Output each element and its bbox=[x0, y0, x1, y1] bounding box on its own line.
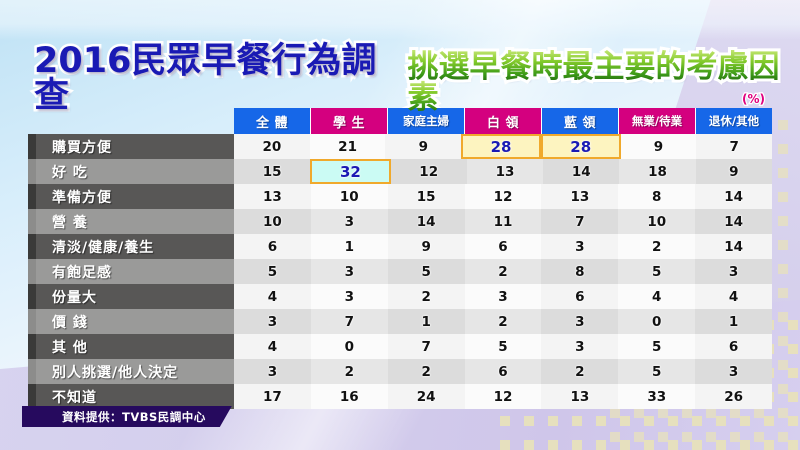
table-column-header: 無業/待業 bbox=[619, 108, 696, 134]
table-row-cells: 20219282897 bbox=[234, 134, 772, 159]
table-cell: 20 bbox=[234, 134, 310, 159]
table-column-header: 藍 領 bbox=[542, 108, 619, 134]
table-row: 有飽足感5352853 bbox=[28, 259, 772, 284]
table-row-label: 份量大 bbox=[28, 284, 234, 309]
table-row-cells: 61963214 bbox=[234, 234, 772, 259]
table-cell: 10 bbox=[234, 209, 311, 234]
broadcast-graphic: 2016民眾早餐行為調查 挑選早餐時最主要的考慮因素 挑選早餐時最主要的考慮因素… bbox=[0, 0, 800, 450]
table-column-header: 白 領 bbox=[465, 108, 542, 134]
table-cell: 3 bbox=[234, 359, 311, 384]
table-row-cells: 17162412133326 bbox=[234, 384, 772, 409]
table-cell: 1 bbox=[695, 309, 772, 334]
table-row-cells: 3712301 bbox=[234, 309, 772, 334]
table-row-cells: 5352853 bbox=[234, 259, 772, 284]
table-row: 好 吃1532121314189 bbox=[28, 159, 772, 184]
table-cell: 3 bbox=[311, 284, 388, 309]
table-cell: 5 bbox=[618, 334, 695, 359]
table-cell: 14 bbox=[388, 209, 465, 234]
table-body: 購買方便20219282897好 吃1532121314189準備方便13101… bbox=[28, 134, 772, 409]
table-cell: 12 bbox=[465, 184, 542, 209]
table-cell: 14 bbox=[543, 159, 619, 184]
table-cell: 18 bbox=[619, 159, 695, 184]
table-cell: 3 bbox=[541, 334, 618, 359]
table-cell: 6 bbox=[465, 359, 542, 384]
table-cell: 9 bbox=[385, 134, 461, 159]
table-column-header: 退休/其他 bbox=[696, 108, 772, 134]
table-cell: 13 bbox=[467, 159, 543, 184]
table-cell: 3 bbox=[465, 284, 542, 309]
table-cell: 3 bbox=[541, 309, 618, 334]
table-row-cells: 4075356 bbox=[234, 334, 772, 359]
table-cell: 2 bbox=[388, 284, 465, 309]
table-row-label: 購買方便 bbox=[28, 134, 234, 159]
table-cell: 2 bbox=[618, 234, 695, 259]
table-cell: 8 bbox=[541, 259, 618, 284]
table-cell: 4 bbox=[234, 334, 311, 359]
table-cell: 10 bbox=[618, 209, 695, 234]
table-column-header: 全 體 bbox=[234, 108, 311, 134]
table-cell: 5 bbox=[465, 334, 542, 359]
table-cell: 5 bbox=[618, 259, 695, 284]
table-cell: 7 bbox=[311, 309, 388, 334]
table-cell: 0 bbox=[618, 309, 695, 334]
table-cell: 16 bbox=[311, 384, 388, 409]
table-cell: 10 bbox=[311, 184, 388, 209]
table-cell: 2 bbox=[465, 309, 542, 334]
table-row-label: 營 養 bbox=[28, 209, 234, 234]
table-row: 清淡/健康/養生61963214 bbox=[28, 234, 772, 259]
table-cell: 3 bbox=[311, 209, 388, 234]
table-row-cells: 1310151213814 bbox=[234, 184, 772, 209]
table-cell: 13 bbox=[234, 184, 311, 209]
table-row-cells: 1532121314189 bbox=[234, 159, 772, 184]
table-cell: 13 bbox=[541, 384, 618, 409]
table-row: 購買方便20219282897 bbox=[28, 134, 772, 159]
table-row: 不知道17162412133326 bbox=[28, 384, 772, 409]
table-cell: 5 bbox=[234, 259, 311, 284]
table-cell: 12 bbox=[465, 384, 542, 409]
table-cell: 4 bbox=[234, 284, 311, 309]
page-title-primary: 2016民眾早餐行為調查 bbox=[34, 44, 402, 114]
table-cell: 26 bbox=[695, 384, 772, 409]
table-cell: 13 bbox=[541, 184, 618, 209]
table-cell: 9 bbox=[621, 134, 697, 159]
table-row-label: 有飽足感 bbox=[28, 259, 234, 284]
table-cell: 3 bbox=[234, 309, 311, 334]
table-row-cells: 3226253 bbox=[234, 359, 772, 384]
table-cell: 3 bbox=[695, 359, 772, 384]
table-cell: 5 bbox=[618, 359, 695, 384]
table-cell: 0 bbox=[311, 334, 388, 359]
unit-label: (%) bbox=[742, 92, 765, 106]
source-attribution: 資料提供：TVBS民調中心 bbox=[22, 406, 232, 427]
table-cell: 33 bbox=[618, 384, 695, 409]
table-row-label: 準備方便 bbox=[28, 184, 234, 209]
table-cell: 12 bbox=[391, 159, 467, 184]
table-cell: 2 bbox=[465, 259, 542, 284]
table-cell: 2 bbox=[311, 359, 388, 384]
table-cell: 7 bbox=[388, 334, 465, 359]
table-cell: 4 bbox=[695, 284, 772, 309]
table-cell: 14 bbox=[695, 234, 772, 259]
table-cell: 14 bbox=[695, 184, 772, 209]
table-cell: 3 bbox=[695, 259, 772, 284]
table-cell: 9 bbox=[388, 234, 465, 259]
table-row: 營 養103141171014 bbox=[28, 209, 772, 234]
title-block: 2016民眾早餐行為調查 挑選早餐時最主要的考慮因素 挑選早餐時最主要的考慮因素 bbox=[34, 44, 800, 114]
table-row: 準備方便1310151213814 bbox=[28, 184, 772, 209]
table-row: 份量大4323644 bbox=[28, 284, 772, 309]
table-cell: 21 bbox=[310, 134, 386, 159]
table-cell: 15 bbox=[234, 159, 310, 184]
table-cell: 5 bbox=[388, 259, 465, 284]
table-cell: 24 bbox=[388, 384, 465, 409]
table-cell: 6 bbox=[541, 284, 618, 309]
table-cell: 7 bbox=[541, 209, 618, 234]
table-header-row: 全 體學 生家庭主婦白 領藍 領無業/待業退休/其他 bbox=[234, 108, 772, 134]
table-row-label: 清淡/健康/養生 bbox=[28, 234, 234, 259]
table-cell: 6 bbox=[465, 234, 542, 259]
table-row: 別人挑選/他人決定3226253 bbox=[28, 359, 772, 384]
table-cell: 15 bbox=[388, 184, 465, 209]
table-row: 價 錢3712301 bbox=[28, 309, 772, 334]
table-row-label: 不知道 bbox=[28, 384, 234, 409]
table-cell: 2 bbox=[388, 359, 465, 384]
table-cell: 3 bbox=[541, 234, 618, 259]
background-top-highlight bbox=[0, 0, 800, 40]
table-cell: 3 bbox=[311, 259, 388, 284]
table-column-header: 學 生 bbox=[311, 108, 388, 134]
table-cell: 7 bbox=[696, 134, 772, 159]
table-cell: 6 bbox=[234, 234, 311, 259]
table-row-label: 其 他 bbox=[28, 334, 234, 359]
survey-table: 全 體學 生家庭主婦白 領藍 領無業/待業退休/其他 購買方便202192828… bbox=[28, 108, 772, 409]
table-row-label: 好 吃 bbox=[28, 159, 234, 184]
table-cell: 1 bbox=[311, 234, 388, 259]
table-row-cells: 4323644 bbox=[234, 284, 772, 309]
table-cell: 8 bbox=[618, 184, 695, 209]
table-row: 其 他4075356 bbox=[28, 334, 772, 359]
table-cell: 14 bbox=[695, 209, 772, 234]
table-cell-highlighted: 28 bbox=[541, 134, 621, 159]
table-cell-highlighted: 32 bbox=[310, 159, 390, 184]
table-cell: 4 bbox=[618, 284, 695, 309]
table-cell-highlighted: 28 bbox=[461, 134, 541, 159]
table-row-cells: 103141171014 bbox=[234, 209, 772, 234]
table-cell: 1 bbox=[388, 309, 465, 334]
table-cell: 11 bbox=[465, 209, 542, 234]
table-row-label: 價 錢 bbox=[28, 309, 234, 334]
table-cell: 9 bbox=[696, 159, 772, 184]
table-cell: 6 bbox=[695, 334, 772, 359]
table-cell: 2 bbox=[541, 359, 618, 384]
table-row-label: 別人挑選/他人決定 bbox=[28, 359, 234, 384]
table-cell: 17 bbox=[234, 384, 311, 409]
